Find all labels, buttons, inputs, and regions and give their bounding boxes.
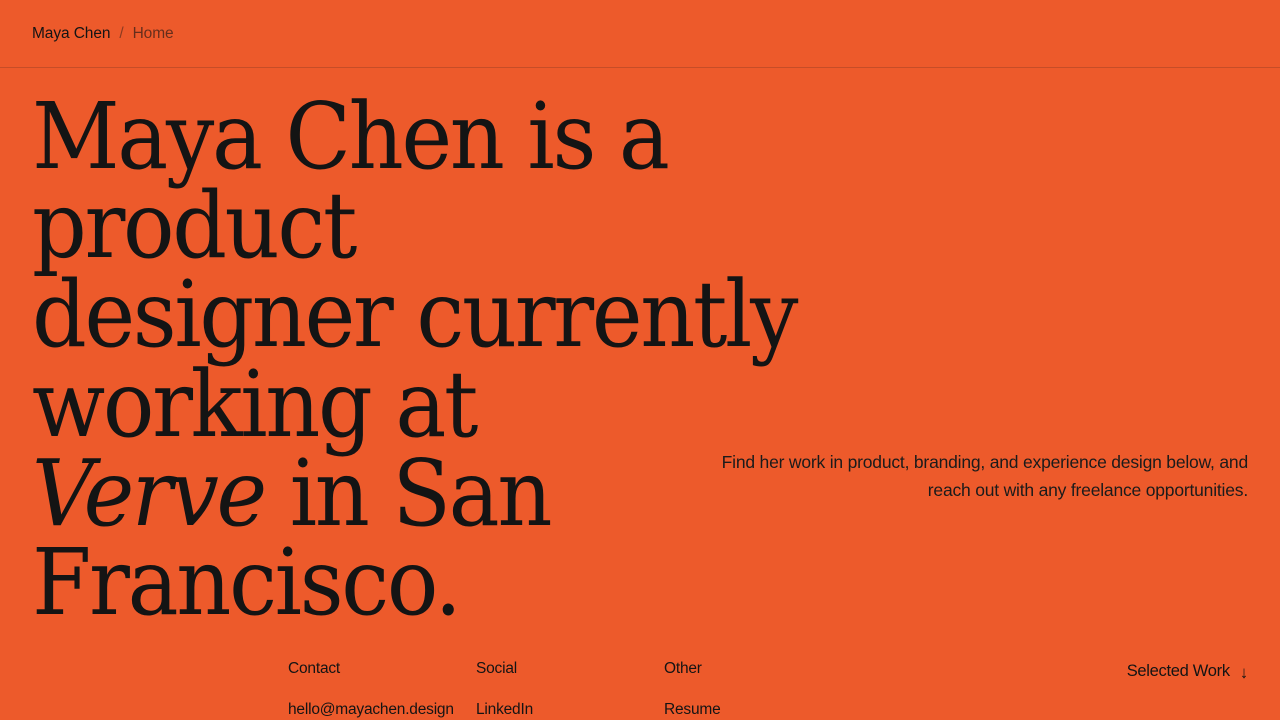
hero-section: Maya Chen is a product designer currentl… [0, 68, 1280, 627]
breadcrumb-separator: / [119, 25, 123, 43]
hero-subcopy: Find her work in product, branding, and … [703, 448, 1248, 504]
top-bar: Maya Chen / Home [0, 0, 1280, 68]
footer-column-other: Other Resume [664, 660, 852, 720]
footer-link-linkedin[interactable]: LinkedIn [476, 698, 664, 720]
footer-column-title: Contact [288, 660, 476, 678]
breadcrumb: Maya Chen / Home [32, 25, 174, 43]
headline-line-2: designer currently working at [32, 261, 796, 457]
footer-column-title: Other [664, 660, 852, 678]
footer: Contact hello@mayachen.design Social Lin… [0, 660, 1280, 720]
footer-link-resume[interactable]: Resume [664, 698, 852, 720]
breadcrumb-item-root[interactable]: Maya Chen [32, 25, 110, 43]
breadcrumb-item-current[interactable]: Home [133, 25, 174, 43]
selected-work-button[interactable]: Selected Work ↓ [1127, 660, 1248, 681]
footer-link-email[interactable]: hello@mayachen.design [288, 698, 476, 720]
headline-line-1: Maya Chen is a product [32, 83, 668, 279]
footer-column-title: Social [476, 660, 664, 678]
footer-column-social: Social LinkedIn [476, 660, 664, 720]
footer-column-contact: Contact hello@mayachen.design [288, 660, 476, 720]
selected-work-label: Selected Work [1127, 662, 1230, 681]
page-title: Maya Chen is a product designer currentl… [32, 92, 953, 627]
arrow-down-icon: ↓ [1240, 664, 1248, 681]
